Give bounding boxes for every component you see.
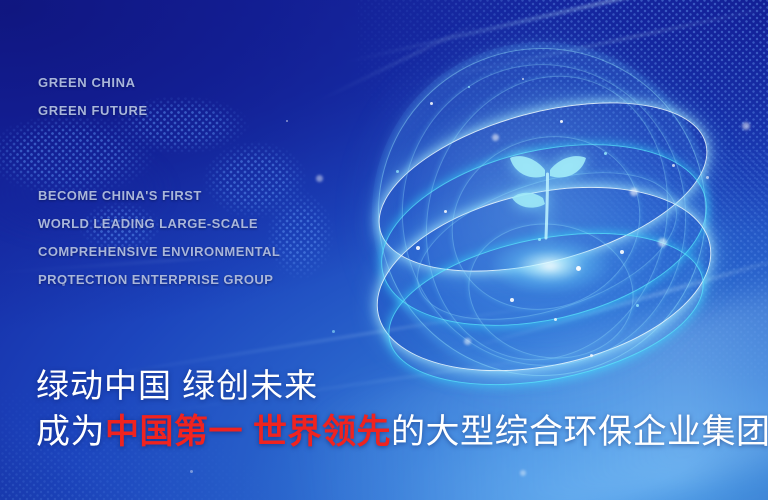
slogan-en-mid-line: WORLD LEADING LARGE-SCALE bbox=[38, 210, 280, 238]
slogan-en-mid: BECOME CHINA'S FIRST WORLD LEADING LARGE… bbox=[38, 182, 280, 294]
slogan-en-mid-line: PROTECTION ENTERPRISE GROUP bbox=[38, 266, 280, 294]
slogan-en-mid-line: BECOME CHINA'S FIRST bbox=[38, 182, 280, 210]
headline-cn-line1: 绿动中国 绿创未来 bbox=[36, 363, 768, 409]
headline-cn-suffix: 的大型综合环保企业集团 bbox=[391, 413, 768, 451]
hero-banner: GREEN CHINA GREEN FUTURE BECOME CHINA'S … bbox=[0, 0, 768, 500]
slogan-en-top: GREEN CHINA GREEN FUTURE bbox=[38, 69, 148, 125]
headline-cn: 绿动中国 绿创未来 成为中国第一 世界领先的大型综合环保企业集团 bbox=[36, 363, 768, 455]
headline-cn-prefix: 成为 bbox=[36, 413, 105, 451]
slogan-en-mid-line: COMPREHENSIVE ENVIRONMENTAL bbox=[38, 238, 280, 266]
headline-cn-highlight: 中国第一 世界领先 bbox=[105, 413, 391, 451]
slogan-en-top-line: GREEN CHINA bbox=[38, 69, 148, 97]
slogan-en-top-line: GREEN FUTURE bbox=[38, 97, 148, 125]
headline-cn-line2: 成为中国第一 世界领先的大型综合环保企业集团 bbox=[36, 409, 768, 455]
